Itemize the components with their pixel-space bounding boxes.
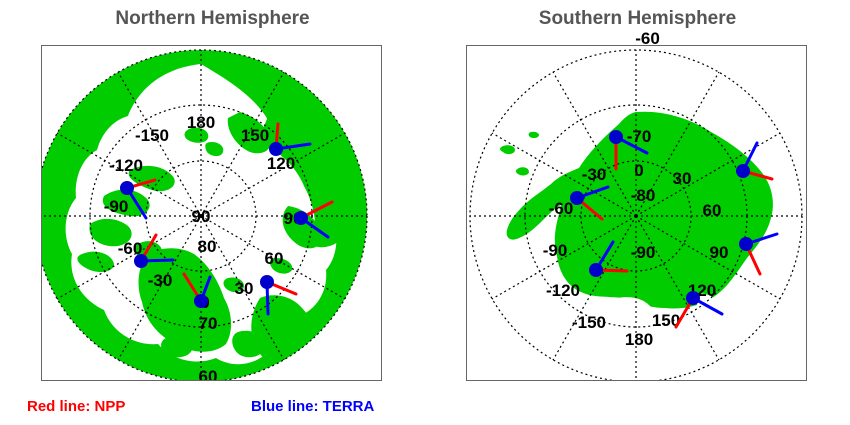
south-map-frame[interactable]: -70 -80 -90 0 30 60 90 120 150 180 -150 … <box>466 45 807 381</box>
north-map-svg: 180 150 120 90 60 30 0 -30 -60 -90 -120 … <box>42 46 382 381</box>
north-lon-label--150: -150 <box>135 126 169 145</box>
south-map-svg: -70 -80 -90 0 30 60 90 120 150 180 -150 … <box>467 46 807 381</box>
north-center-label: 90 <box>192 207 211 226</box>
south-lat-label--80: -80 <box>631 186 656 205</box>
south-lon-label-180: 180 <box>625 330 653 349</box>
south-lon-label--90: -90 <box>543 241 568 260</box>
south-lon-label--30: -30 <box>582 165 607 184</box>
south-lon-label-0: 0 <box>634 161 643 180</box>
page-title-south: Southern Hemisphere <box>425 8 850 30</box>
north-lon-label-120: 120 <box>267 154 295 173</box>
north-lon-label--120: -120 <box>109 156 143 175</box>
north-lon-label-150: 150 <box>241 126 269 145</box>
north-lat-label-70: 70 <box>199 314 218 333</box>
southern-hemisphere-panel: Southern Hemisphere <box>425 0 850 425</box>
north-lon-label-180: 180 <box>187 113 215 132</box>
northern-hemisphere-panel: Northern Hemisphere <box>0 0 425 425</box>
south-lon-label--60: -60 <box>549 199 574 218</box>
north-lat-label-80: 80 <box>198 237 217 256</box>
north-lon-label-30: 30 <box>235 279 254 298</box>
south-lon-label-30: 30 <box>673 169 692 188</box>
page-title-north: Northern Hemisphere <box>0 8 425 30</box>
south-lon-label-60: 60 <box>703 201 722 220</box>
north-lon-label-60: 60 <box>265 249 284 268</box>
south-lon-label-90: 90 <box>710 243 729 262</box>
south-lon-label--120: -120 <box>546 281 580 300</box>
legend-terra: Blue line: TERRA <box>251 398 374 415</box>
north-lon-label--30: -30 <box>148 271 173 290</box>
north-lat-label-60: 60 <box>199 367 218 381</box>
north-lon-label--90: -90 <box>104 197 129 216</box>
south-lat-label--60: -60 <box>435 29 850 49</box>
south-lon-label--150: -150 <box>572 313 606 332</box>
south-center-label: -90 <box>631 243 656 262</box>
legend-npp: Red line: NPP <box>27 398 125 415</box>
north-map-frame[interactable]: 180 150 120 90 60 30 0 -30 -60 -90 -120 … <box>41 45 382 381</box>
